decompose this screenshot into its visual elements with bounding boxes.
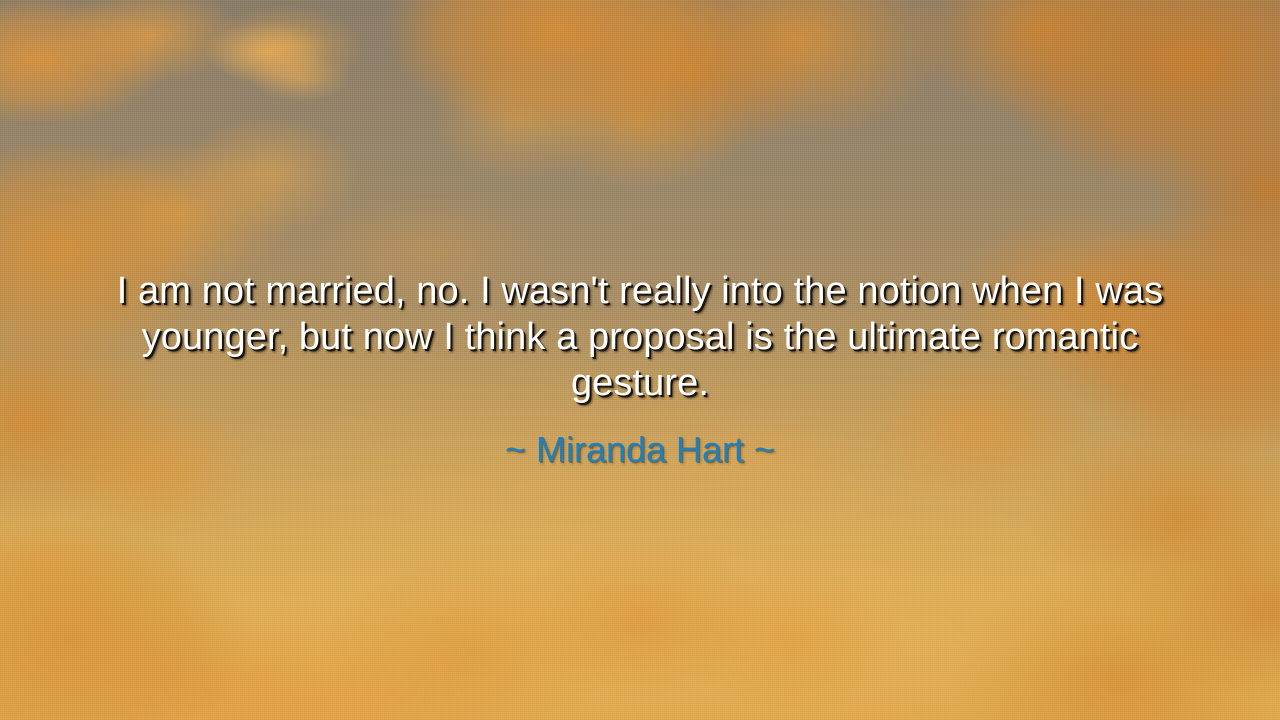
- quote-block: I am not married, no. I wasn't really in…: [0, 268, 1280, 472]
- quote-image-canvas: I am not married, no. I wasn't really in…: [0, 0, 1280, 720]
- quote-attribution: ~ Miranda Hart ~: [110, 428, 1170, 472]
- quote-text: I am not married, no. I wasn't really in…: [110, 268, 1170, 406]
